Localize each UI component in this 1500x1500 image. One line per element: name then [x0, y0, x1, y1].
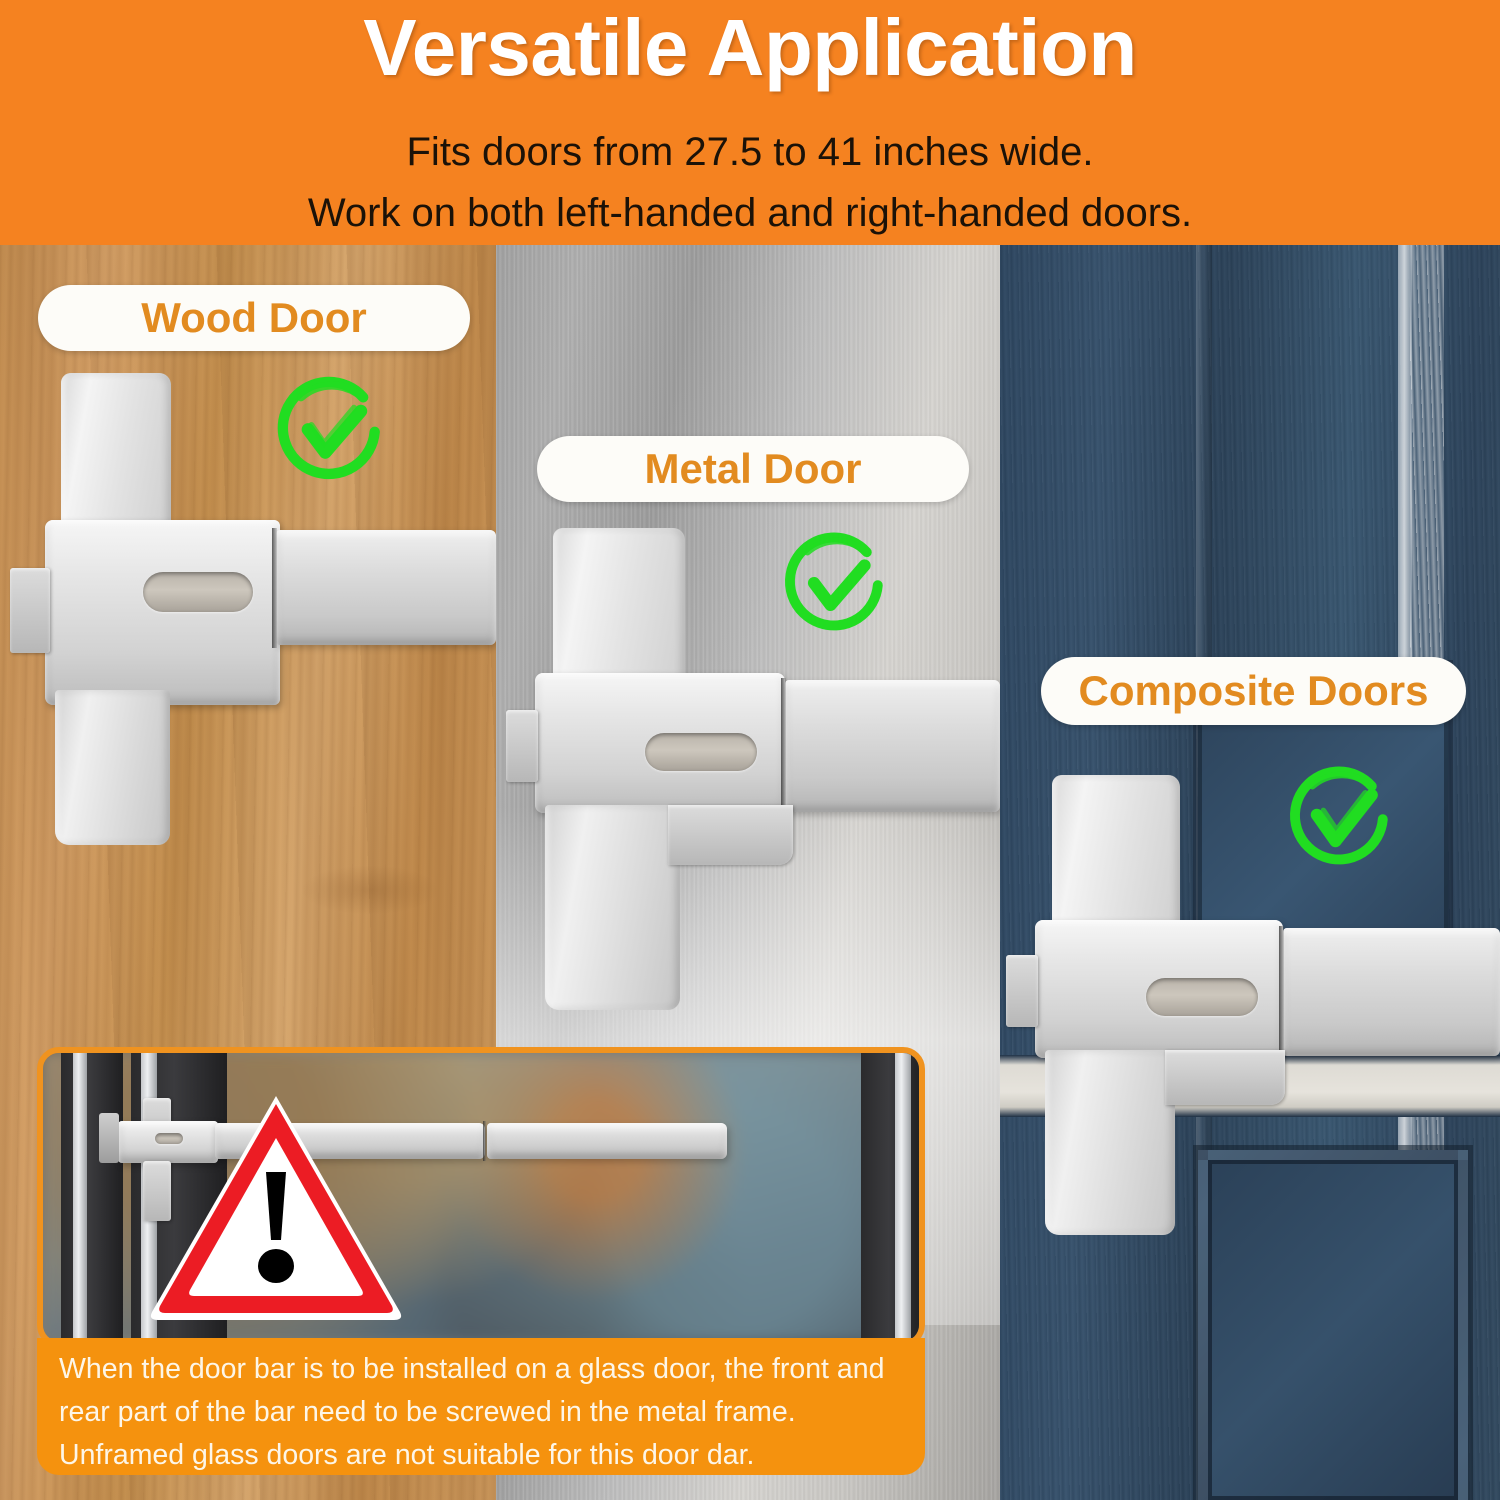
glass-door-frame-right [861, 1053, 923, 1347]
panic-bar-vertical-rod-top [1052, 775, 1180, 943]
panic-bar-push-rail-right [487, 1123, 727, 1159]
green-check-circle-icon [780, 528, 892, 638]
panic-bar-slot [1146, 978, 1258, 1016]
panic-bar-seam [1279, 926, 1284, 1058]
glass-door-warning-note: When the door bar is to be installed on … [37, 1338, 925, 1475]
warning-note-line1: When the door bar is to be installed on … [59, 1348, 903, 1391]
panic-bar-latch-tab [1006, 955, 1038, 1027]
green-check-circle-icon [272, 372, 390, 487]
warning-note-line2: rear part of the bar need to be screwed … [59, 1391, 903, 1434]
panic-bar-latch-tab [10, 568, 50, 653]
panic-bar-strike-plate [99, 1113, 119, 1163]
warning-note-line3: Unframed glass doors are not suitable fo… [59, 1434, 903, 1477]
glass-door-mullion [895, 1053, 911, 1347]
warning-triangle-exclamation-icon [148, 1090, 404, 1322]
panic-bar-vertical-rod-bottom [55, 690, 170, 845]
panic-bar-shoulder [1165, 1050, 1285, 1105]
panic-bar-seam [272, 528, 277, 648]
label-wood-door-text: Wood Door [141, 294, 367, 342]
panic-bar-shoulder [668, 805, 793, 865]
label-wood-door: Wood Door [38, 285, 470, 351]
label-composite-doors-text: Composite Doors [1078, 667, 1428, 715]
product-infographic: Versatile Application Fits doors from 27… [0, 0, 1500, 1500]
panic-bar-seam [483, 1121, 486, 1161]
wood-grain-knot [300, 865, 440, 915]
panic-bar-vertical-rod-top [61, 373, 171, 533]
panic-bar-vertical-rod-bottom [545, 805, 680, 1010]
label-metal-door-text: Metal Door [644, 445, 861, 493]
composite-door-lower-panel [1198, 1150, 1468, 1500]
panic-bar-slot [645, 733, 757, 771]
green-check-circle-icon [1285, 762, 1397, 872]
panic-bar-push-rail [785, 680, 1000, 812]
panic-bar-slot [143, 572, 253, 612]
glass-door-frame-left [61, 1053, 123, 1347]
panic-bar-latch-tab [506, 710, 538, 782]
panic-bar-mounting-head [45, 520, 280, 705]
panic-bar-push-rail [276, 530, 496, 645]
header-subtitle-line2: Work on both left-handed and right-hande… [0, 191, 1500, 236]
panic-bar-seam [781, 678, 786, 814]
page-title: Versatile Application [0, 6, 1500, 90]
panic-bar-vertical-rod-top [553, 528, 685, 696]
label-metal-door: Metal Door [537, 436, 969, 502]
panic-bar-push-rail [1283, 928, 1500, 1056]
panic-bar-vertical-rod-bottom [1045, 1050, 1175, 1235]
header-subtitle-line1: Fits doors from 27.5 to 41 inches wide. [0, 130, 1500, 175]
glass-door-mullion [73, 1053, 87, 1347]
header-banner: Versatile Application Fits doors from 27… [0, 0, 1500, 245]
label-composite-doors: Composite Doors [1041, 657, 1466, 725]
